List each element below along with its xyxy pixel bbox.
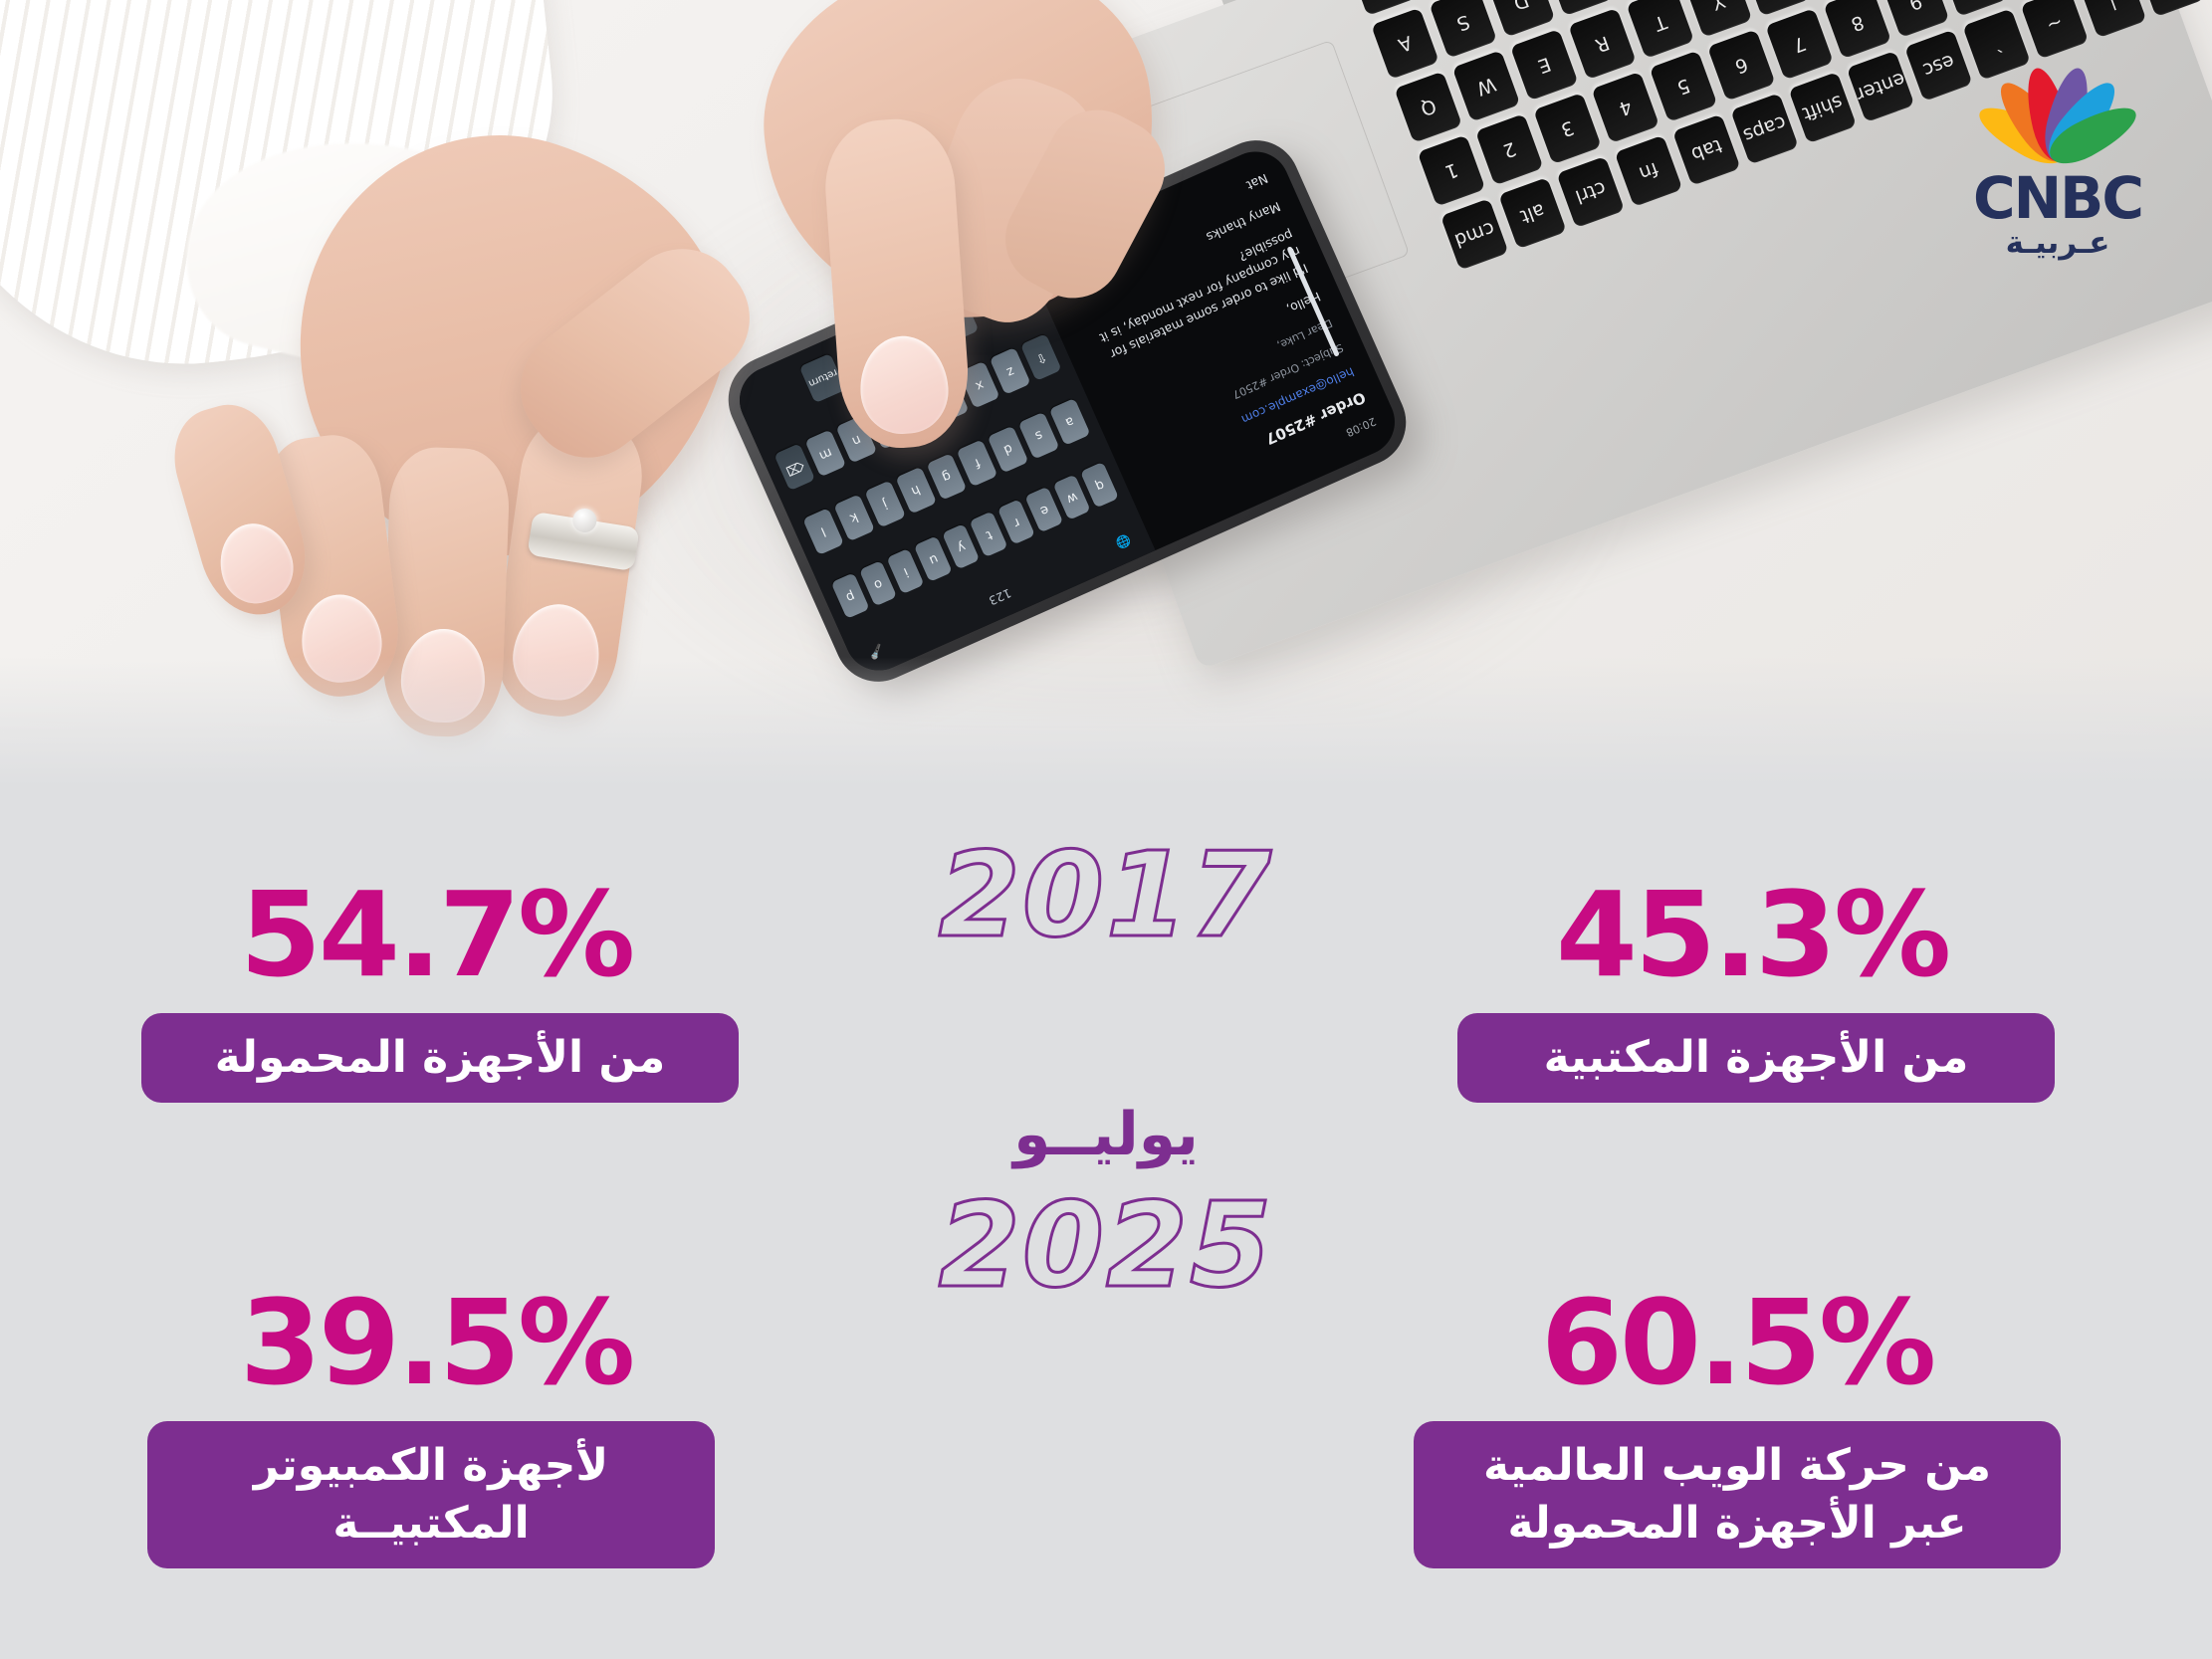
laptop-key: T	[1626, 0, 1694, 59]
laptop-key: 2	[1475, 113, 1544, 185]
left-finger-middle	[381, 446, 511, 738]
numbers-key: 123	[987, 586, 1013, 608]
year-2025: 2025	[758, 1186, 1454, 1304]
laptop-key: |	[2079, 0, 2147, 38]
infographic-canvas: ZXCVBNM<>?F7F8F9ASDFGHJKL:"F10F11QWERTYU…	[0, 0, 2212, 1659]
stat-label-line: من حركة الويب العالمية	[1439, 1437, 2035, 1495]
laptop-key: 7	[1765, 8, 1834, 80]
laptop-key: enter	[1847, 51, 1915, 122]
stat-mobile-2017: 54.7% من الأجهزة المحمولة	[117, 876, 755, 1103]
stat-percent: 54.7%	[117, 876, 755, 993]
laptop-key: W	[1452, 50, 1521, 121]
laptop-key: \	[2136, 0, 2205, 17]
fingernail	[399, 628, 486, 725]
left-hand-resting	[179, 119, 936, 756]
laptop-key: Q	[1394, 71, 1462, 142]
globe-icon: 🌐	[1114, 532, 1133, 551]
laptop-key: shift	[1788, 72, 1857, 143]
stat-percent: 39.5%	[117, 1284, 755, 1401]
stat-percent: 60.5%	[1394, 1284, 2081, 1401]
laptop-key: 3	[1533, 93, 1602, 164]
laptop-key: Y	[1684, 0, 1753, 38]
hands-laptop-phone-photo: ZXCVBNM<>?F7F8F9ASDFGHJKL:"F10F11QWERTYU…	[0, 0, 2212, 786]
laptop-key: tab	[1672, 113, 1741, 185]
laptop-key: 8	[1823, 0, 1891, 59]
cnbc-wordmark: CNBC	[1943, 171, 2172, 226]
laptop-key: E	[1510, 29, 1579, 101]
stat-mobile-2025: 60.5% من حركة الويب العالمية عبر الأجهزة…	[1394, 1284, 2081, 1568]
laptop-key: ctrl	[1556, 156, 1625, 228]
stat-label-line: لأجهزة الكمبيوتر	[173, 1437, 689, 1495]
stat-label-line: عبر الأجهزة المحمولة	[1439, 1495, 2035, 1553]
stat-label-pill: من الأجهزة المحمولة	[141, 1013, 739, 1103]
laptop-key: 9	[1881, 0, 1950, 38]
stat-percent: 45.3%	[1434, 876, 2071, 993]
stat-label-line: من الأجهزة المحمولة	[167, 1029, 713, 1087]
laptop-key: caps	[1730, 93, 1799, 164]
laptop-key: S	[1429, 0, 1497, 59]
stat-desktop-2017: 45.3% من الأجهزة المكتبية	[1434, 876, 2071, 1103]
laptop-key: 5	[1650, 51, 1718, 122]
fingernail	[508, 599, 606, 706]
stat-label-pill: من الأجهزة المكتبية	[1457, 1013, 2055, 1103]
year-2017: 2017	[758, 836, 1454, 953]
laptop-key: R	[1568, 8, 1637, 80]
laptop-key: fn	[1615, 135, 1683, 207]
laptop-key: 4	[1591, 72, 1659, 143]
laptop-key: 6	[1707, 29, 1776, 101]
month-july: يوليــو	[758, 1099, 1454, 1170]
laptop-key: ~	[2021, 0, 2090, 60]
laptop-key: A	[1371, 8, 1439, 80]
laptop-key: cmd	[1440, 198, 1509, 270]
stat-label-pill: لأجهزة الكمبيوتر المكتبيــة	[147, 1421, 715, 1568]
stat-label-pill: من حركة الويب العالمية عبر الأجهزة المحم…	[1414, 1421, 2061, 1568]
stat-label-line: من الأجهزة المكتبية	[1483, 1029, 2029, 1087]
laptop-key: alt	[1498, 177, 1567, 249]
cnbc-arabia-logo: CNBC عـربيـة	[1943, 56, 2172, 260]
laptop-key: D	[1487, 0, 1556, 37]
laptop-key: 1	[1418, 134, 1486, 206]
timeline-center-column: 2017 يوليــو 2025	[758, 836, 1454, 1304]
fingernail	[211, 515, 302, 611]
stat-label-line: المكتبيــة	[173, 1495, 689, 1553]
stat-desktop-2025: 39.5% لأجهزة الكمبيوتر المكتبيــة	[117, 1284, 755, 1568]
timeline-spacer	[758, 953, 1454, 1099]
fingernail	[297, 590, 386, 687]
cnbc-peacock-logo	[1978, 56, 2137, 165]
